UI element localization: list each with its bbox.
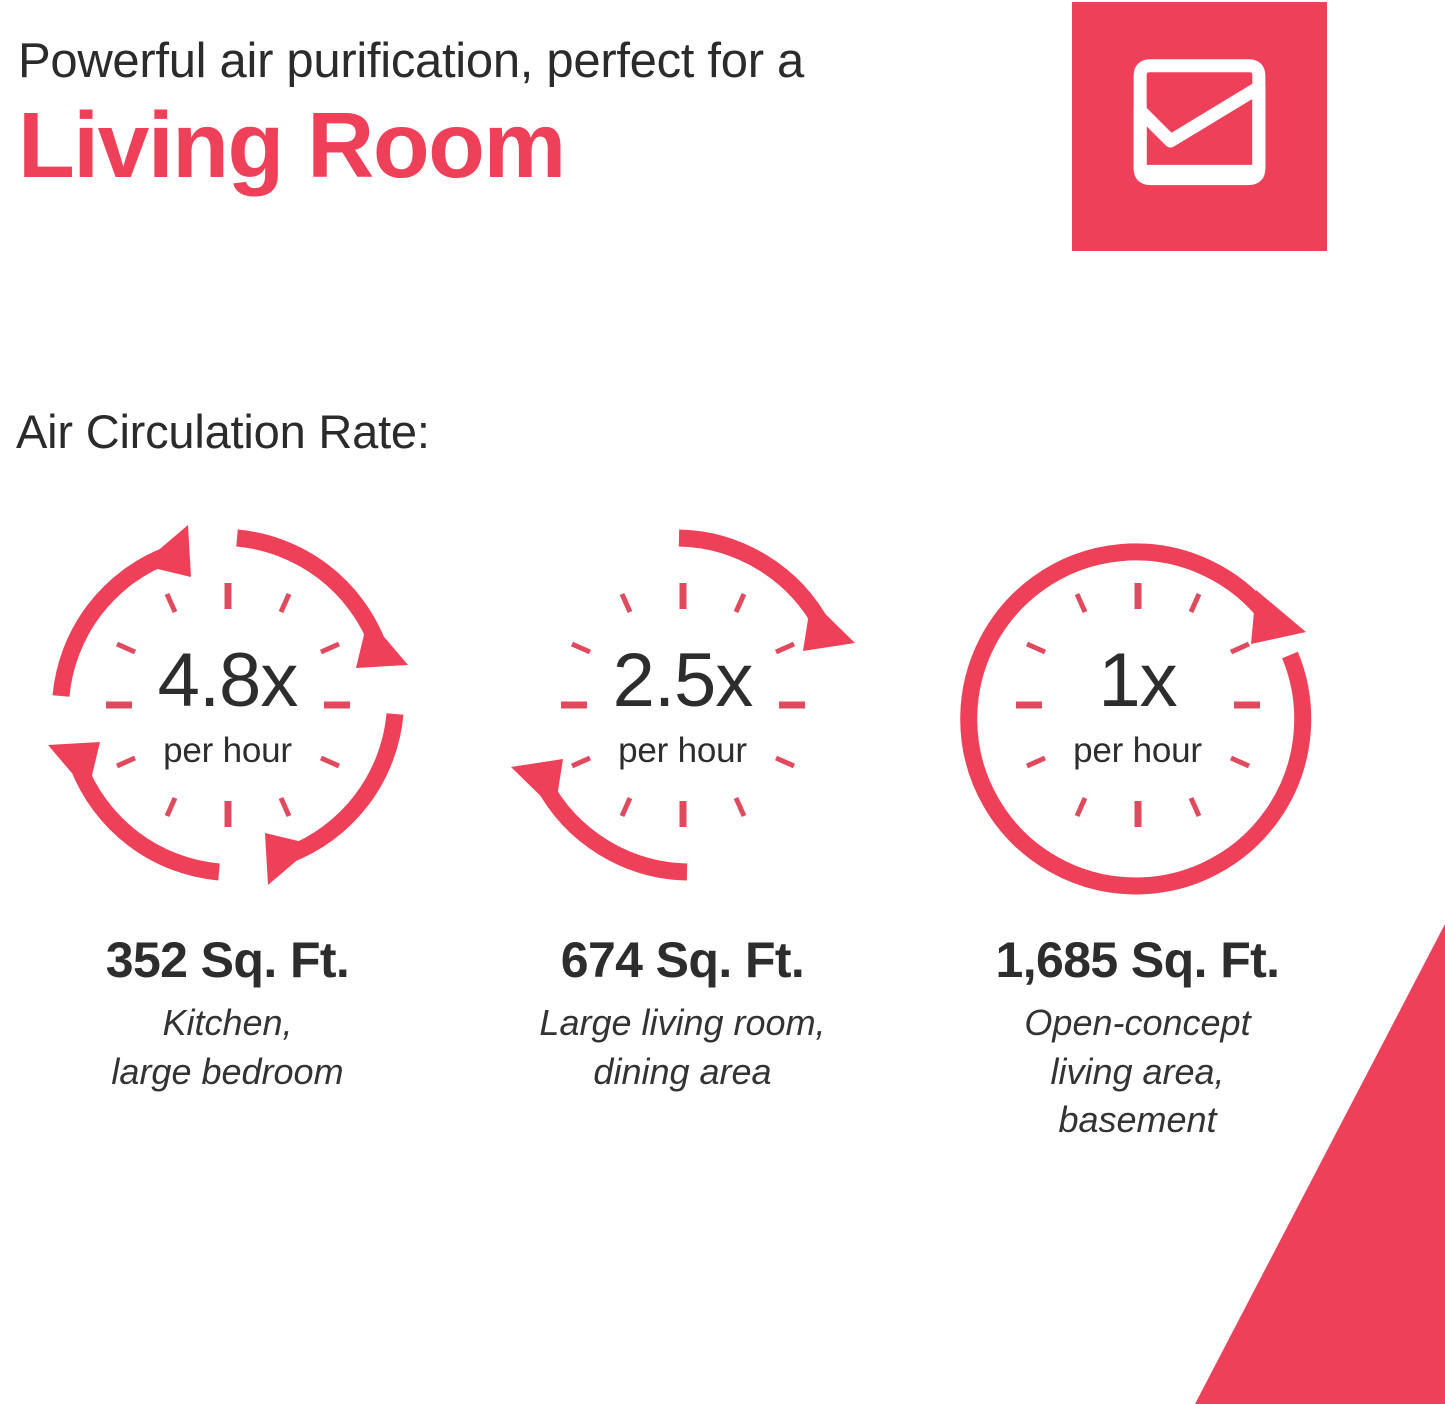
rate-description: Open-concept living area, basement <box>1024 999 1250 1145</box>
rate-card: 1x per hour 1,685 Sq. Ft. Open-concept l… <box>910 505 1365 1145</box>
circulation-dial: 2.5x per hour <box>483 505 883 905</box>
dial-graphic <box>28 505 428 905</box>
dial-graphic <box>938 505 1338 905</box>
dial-graphic <box>483 505 883 905</box>
circulation-dial: 1x per hour <box>938 505 1338 905</box>
page-title: Living Room <box>18 97 1028 195</box>
rate-card: 4.8x per hour 352 Sq. Ft. Kitchen, large… <box>0 505 455 1145</box>
header: Powerful air purification, perfect for a… <box>0 0 1445 270</box>
rate-area-value: 352 Sq. Ft. <box>106 931 349 989</box>
circulation-rate-row: 4.8x per hour 352 Sq. Ft. Kitchen, large… <box>0 505 1405 1145</box>
headline-block: Powerful air purification, perfect for a… <box>18 34 1028 195</box>
rate-description: Large living room, dining area <box>539 999 825 1096</box>
section-label-air-circulation-rate: Air Circulation Rate: <box>16 404 430 459</box>
sofa-icon <box>1112 44 1287 209</box>
infographic-page: Powerful air purification, perfect for a… <box>0 0 1445 1404</box>
circulation-dial: 4.8x per hour <box>28 505 428 905</box>
headline-subtitle: Powerful air purification, perfect for a <box>18 34 1028 89</box>
rate-area-value: 674 Sq. Ft. <box>561 931 804 989</box>
rate-card: 2.5x per hour 674 Sq. Ft. Large living r… <box>455 505 910 1145</box>
room-icon-tile <box>1072 2 1327 251</box>
rate-description: Kitchen, large bedroom <box>111 999 343 1096</box>
rate-area-value: 1,685 Sq. Ft. <box>996 931 1280 989</box>
